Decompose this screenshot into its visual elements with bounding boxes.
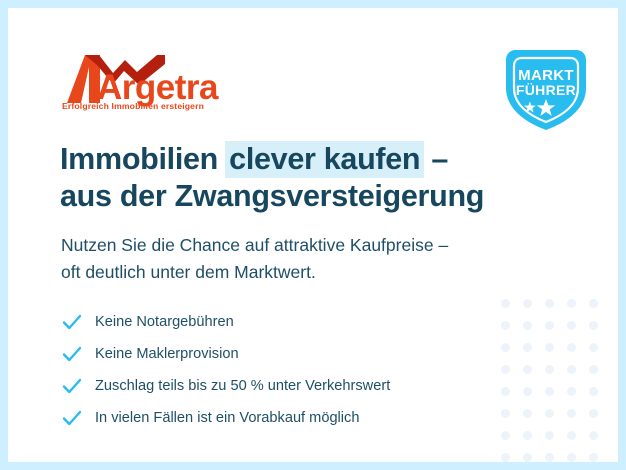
decorative-dot xyxy=(501,409,510,418)
list-item-label: In vielen Fällen ist ein Vorabkauf mögli… xyxy=(95,411,359,426)
decorative-dot xyxy=(523,299,532,308)
decorative-dot xyxy=(545,387,554,396)
check-icon xyxy=(61,311,83,333)
decorative-dot xyxy=(589,365,598,374)
decorative-dot xyxy=(501,365,510,374)
decorative-dot xyxy=(567,431,576,440)
list-item: In vielen Fällen ist ein Vorabkauf mögli… xyxy=(61,402,390,434)
decorative-dot xyxy=(545,453,554,462)
list-item-label: Keine Notargebühren xyxy=(95,315,234,330)
decorative-dot xyxy=(523,431,532,440)
decorative-dot xyxy=(567,365,576,374)
decorative-dot xyxy=(589,387,598,396)
shield-badge-icon: MARKT FÜHRER xyxy=(502,46,590,132)
check-icon xyxy=(61,343,83,365)
list-item: Zuschlag teils bis zu 50 % unter Verkehr… xyxy=(61,370,390,402)
page-title: Immobilien clever kaufen – aus der Zwang… xyxy=(60,141,484,215)
headline-line-1-after: – xyxy=(423,142,448,176)
decorative-dot xyxy=(589,431,598,440)
list-item-label: Keine Maklerprovision xyxy=(95,347,239,362)
decorative-dot xyxy=(501,321,510,330)
promo-banner-card: Argetra Erfolgreich Immobilien ersteiger… xyxy=(8,8,618,462)
check-icon xyxy=(61,407,83,429)
decorative-dot xyxy=(589,409,598,418)
decorative-dot-grid xyxy=(494,292,604,462)
decorative-dot xyxy=(523,409,532,418)
logo-tagline: Erfolgreich Immobilien ersteigern xyxy=(62,101,204,111)
badge-line-2: FÜHRER xyxy=(516,82,576,98)
decorative-dot xyxy=(589,343,598,352)
subheadline: Nutzen Sie die Chance auf attraktive Kau… xyxy=(61,232,448,286)
benefits-list: Keine Notargebühren Keine Maklerprovisio… xyxy=(61,306,390,434)
headline-line-2: aus der Zwangsversteigerung xyxy=(60,178,484,215)
decorative-dot xyxy=(545,431,554,440)
decorative-dot xyxy=(545,299,554,308)
decorative-dot xyxy=(545,343,554,352)
decorative-dot xyxy=(589,321,598,330)
decorative-dot xyxy=(523,321,532,330)
decorative-dot xyxy=(567,453,576,462)
list-item-label: Zuschlag teils bis zu 50 % unter Verkehr… xyxy=(95,379,390,394)
decorative-dot xyxy=(523,343,532,352)
headline-line-1-before: Immobilien xyxy=(60,142,226,176)
decorative-dot xyxy=(523,387,532,396)
subheadline-line-1: Nutzen Sie die Chance auf attraktive Kau… xyxy=(61,232,448,259)
decorative-dot xyxy=(589,453,598,462)
decorative-dot xyxy=(501,299,510,308)
decorative-dot xyxy=(567,409,576,418)
decorative-dot xyxy=(567,321,576,330)
markt-fuehrer-badge: MARKT FÜHRER xyxy=(502,46,590,132)
headline-highlight: clever kaufen xyxy=(225,141,424,178)
decorative-dot xyxy=(501,431,510,440)
check-icon xyxy=(61,375,83,397)
decorative-dot xyxy=(501,343,510,352)
list-item: Keine Notargebühren xyxy=(61,306,390,338)
decorative-dot xyxy=(567,387,576,396)
decorative-dot xyxy=(523,453,532,462)
decorative-dot xyxy=(545,321,554,330)
decorative-dot xyxy=(545,365,554,374)
decorative-dot xyxy=(523,365,532,374)
decorative-dot xyxy=(589,299,598,308)
list-item: Keine Maklerprovision xyxy=(61,338,390,370)
decorative-dot xyxy=(501,387,510,396)
decorative-dot xyxy=(567,299,576,308)
headline-line-1: Immobilien clever kaufen – xyxy=(60,141,484,178)
decorative-dot xyxy=(567,343,576,352)
decorative-dot xyxy=(545,409,554,418)
decorative-dot xyxy=(501,453,510,462)
subheadline-line-2: oft deutlich unter dem Marktwert. xyxy=(61,259,448,286)
